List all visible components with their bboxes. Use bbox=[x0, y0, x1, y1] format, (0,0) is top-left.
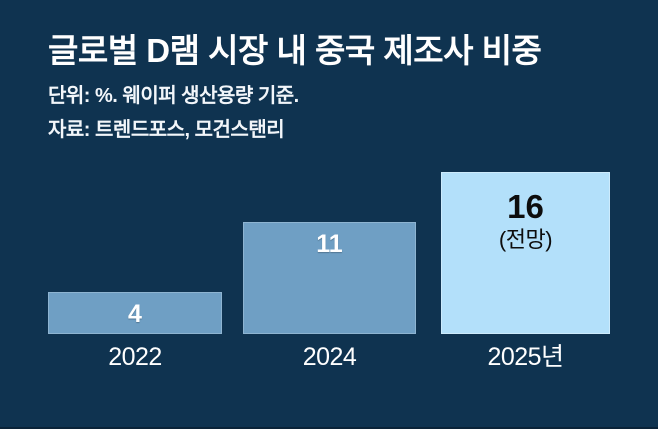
bar-category-label-2022: 2022 bbox=[48, 345, 222, 370]
bar-forecast-note-2025: (전망) bbox=[499, 229, 552, 251]
bar-group-2024: 11 2024 bbox=[243, 222, 416, 334]
bar-category-label-2024: 2024 bbox=[243, 345, 416, 370]
bar-value-2022: 4 bbox=[128, 302, 142, 327]
bar-group-2022: 4 2022 bbox=[48, 292, 222, 334]
bar-category-label-2025: 2025년 bbox=[441, 345, 610, 370]
bar-chart-plot-area: 4 2022 11 2024 16 (전망) 2025년 bbox=[0, 0, 658, 429]
infographic-chart-card: 글로벌 D램 시장 내 중국 제조사 비중 단위: %. 웨이퍼 생산용량 기준… bbox=[0, 0, 658, 429]
bar-2024[interactable]: 11 bbox=[243, 222, 416, 334]
bar-2025-forecast[interactable]: 16 (전망) bbox=[441, 172, 610, 334]
bar-value-2025: 16 bbox=[507, 190, 544, 223]
bar-value-2024: 11 bbox=[316, 232, 342, 257]
bar-2022[interactable]: 4 bbox=[48, 292, 222, 334]
bar-group-2025: 16 (전망) 2025년 bbox=[441, 172, 610, 334]
